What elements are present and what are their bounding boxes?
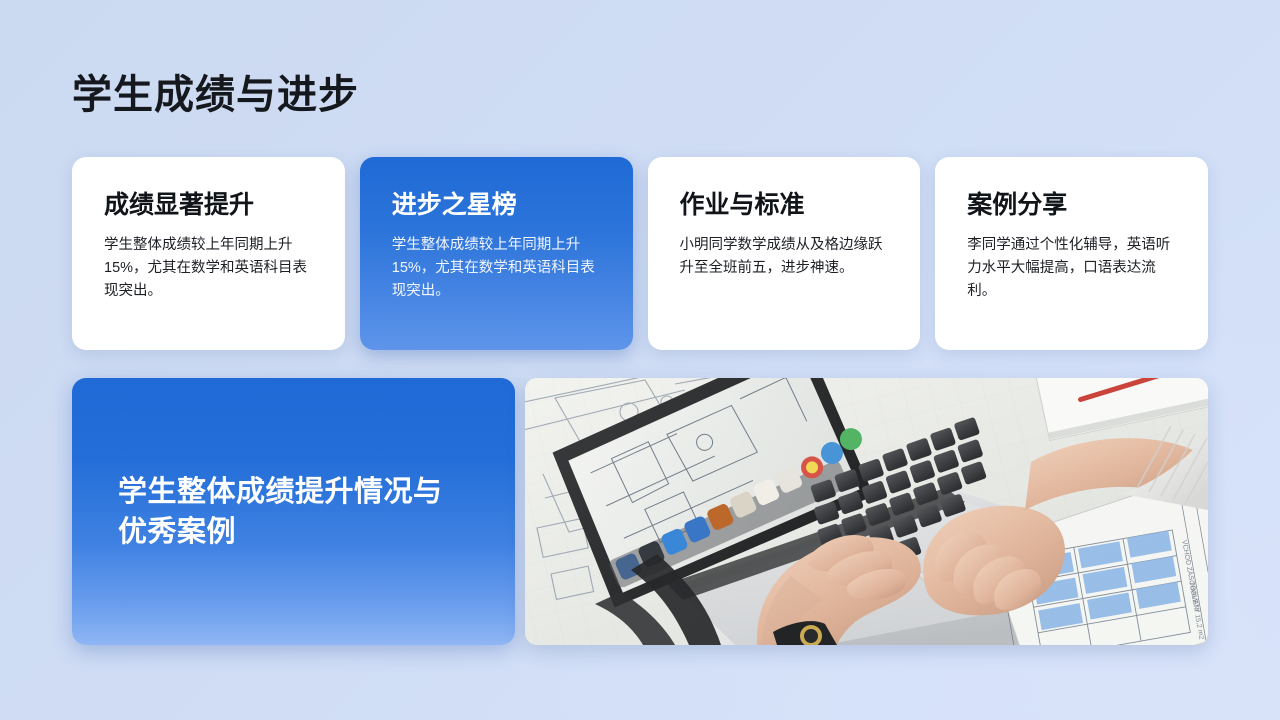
feature-card-row: 成绩显著提升 学生整体成绩较上年同期上升15%，尤其在数学和英语科目表现突出。 … [72,157,1208,350]
feature-card-4-title: 案例分享 [967,191,1182,220]
feature-card-2-title: 进步之星榜 [392,191,607,220]
feature-card-4-body: 李同学通过个性化辅导，英语听力水平大幅提高，口语表达流利。 [967,234,1182,303]
summary-banner: 学生整体成绩提升情况与优秀案例 [72,378,515,645]
summary-banner-text: 学生整体成绩提升情况与优秀案例 [118,472,469,552]
feature-card-2-body: 学生整体成绩较上年同期上升15%，尤其在数学和英语科目表现突出。 [392,234,607,303]
slide-root: 学生成绩与进步 成绩显著提升 学生整体成绩较上年同期上升15%，尤其在数学和英语… [0,0,1280,720]
feature-card-1-body: 学生整体成绩较上年同期上升15%，尤其在数学和英语科目表现突出。 [104,234,319,303]
feature-card-3-body: 小明同学数学成绩从及格边缘跃升至全班前五，进步神速。 [680,234,895,280]
feature-card-4[interactable]: 案例分享 李同学通过个性化辅导，英语听力水平大幅提高，口语表达流利。 [935,157,1208,350]
feature-card-2[interactable]: 进步之星榜 学生整体成绩较上年同期上升15%，尤其在数学和英语科目表现突出。 [360,157,633,350]
page-title: 学生成绩与进步 [72,71,359,119]
feature-card-1[interactable]: 成绩显著提升 学生整体成绩较上年同期上升15%，尤其在数学和英语科目表现突出。 [72,157,345,350]
laptop-blueprint-photo: VCHOD ZÁSOBOVÁNÍ TOALETY 15,2 m2 [525,378,1208,645]
feature-card-1-title: 成绩显著提升 [104,191,319,220]
feature-card-3[interactable]: 作业与标准 小明同学数学成绩从及格边缘跃升至全班前五，进步神速。 [648,157,921,350]
feature-card-3-title: 作业与标准 [680,191,895,220]
